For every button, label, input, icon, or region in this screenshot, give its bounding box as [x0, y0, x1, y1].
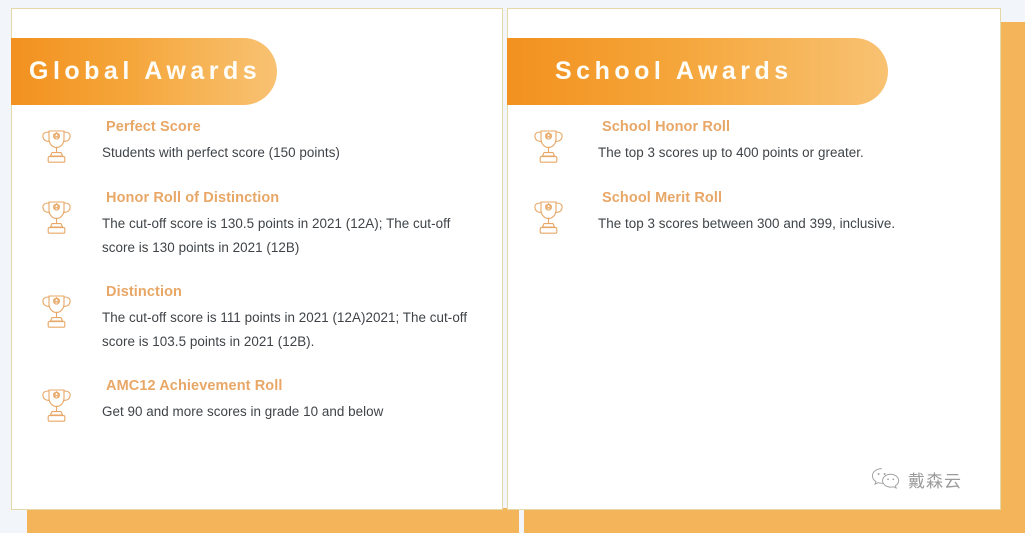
award-text: School Honor Roll The top 3 scores up to… [598, 119, 982, 165]
trophy-icon-wrap [532, 190, 598, 237]
award-text: School Merit Roll The top 3 scores betwe… [598, 190, 982, 236]
award-title: School Merit Roll [602, 190, 982, 206]
right-card-shadow-bar-horizontal [524, 508, 1025, 533]
right-card-shadow-bar-vertical [1000, 22, 1025, 533]
award-title: Perfect Score [106, 119, 484, 135]
award-item: School Honor Roll The top 3 scores up to… [532, 119, 982, 166]
award-title: School Honor Roll [602, 119, 982, 135]
trophy-icon-wrap [40, 190, 102, 237]
award-title: Distinction [106, 284, 484, 300]
left-card-shadow-bar [27, 508, 519, 533]
award-text: AMC12 Achievement Roll Get 90 and more s… [102, 378, 484, 424]
award-item: Honor Roll of Distinction The cut-off sc… [40, 190, 484, 260]
award-text: Distinction The cut-off score is 111 poi… [102, 284, 484, 354]
award-item: AMC12 Achievement Roll Get 90 and more s… [40, 378, 484, 425]
school-awards-list: School Honor Roll The top 3 scores up to… [508, 119, 1000, 261]
award-description: The top 3 scores up to 400 points or gre… [598, 141, 982, 165]
award-item: Distinction The cut-off score is 111 poi… [40, 284, 484, 354]
watermark-text: 戴森云 [908, 467, 962, 492]
school-awards-card: School Awards [507, 8, 1001, 510]
trophy-icon [40, 128, 73, 166]
trophy-icon [532, 199, 565, 237]
award-description: The top 3 scores between 300 and 399, in… [598, 212, 982, 236]
trophy-icon [532, 128, 565, 166]
global-awards-banner-title: Global Awards [29, 57, 261, 86]
school-awards-banner-title: School Awards [555, 57, 793, 86]
award-item: Perfect Score Students with perfect scor… [40, 119, 484, 166]
award-description: Get 90 and more scores in grade 10 and b… [102, 400, 484, 424]
school-awards-banner: School Awards [507, 38, 888, 105]
trophy-icon-wrap [532, 119, 598, 166]
trophy-icon-wrap [40, 119, 102, 166]
award-description: The cut-off score is 111 points in 2021 … [102, 306, 484, 354]
award-text: Perfect Score Students with perfect scor… [102, 119, 484, 165]
trophy-icon [40, 293, 73, 331]
award-title: AMC12 Achievement Roll [106, 378, 484, 394]
trophy-icon [40, 387, 73, 425]
award-text: Honor Roll of Distinction The cut-off sc… [102, 190, 484, 260]
award-description: The cut-off score is 130.5 points in 202… [102, 212, 484, 260]
award-description: Students with perfect score (150 points) [102, 141, 484, 165]
trophy-icon-wrap [40, 378, 102, 425]
global-awards-card: Global Awards [11, 8, 503, 510]
trophy-icon [40, 199, 73, 237]
award-item: School Merit Roll The top 3 scores betwe… [532, 190, 982, 237]
global-awards-list: Perfect Score Students with perfect scor… [12, 119, 502, 449]
wechat-icon [871, 466, 901, 492]
watermark: 戴森云 [871, 466, 962, 492]
global-awards-banner: Global Awards [11, 38, 277, 105]
trophy-icon-wrap [40, 284, 102, 331]
award-title: Honor Roll of Distinction [106, 190, 484, 206]
